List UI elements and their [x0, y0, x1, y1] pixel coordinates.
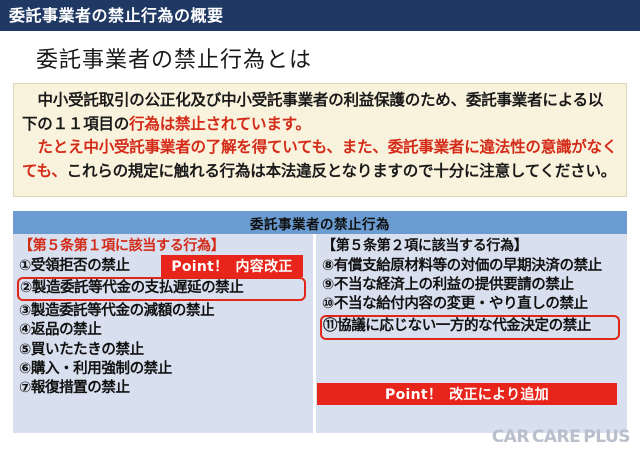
watermark-word-care: CARE — [532, 427, 580, 447]
table-header-row: 委託事業者の禁止行為 — [13, 211, 627, 234]
note-p1-red-text: 行為は禁止されています。 — [129, 115, 311, 133]
point-badge-content-revision: Point！ 内容改正 — [161, 255, 303, 277]
list-item: ⑨不当な経済上の利益の提供要請の禁止 — [322, 276, 623, 295]
list-item: ⑦報復措置の禁止 — [19, 379, 309, 398]
point-badge-text: 改正により追加 — [449, 384, 549, 404]
watermark-logo: CAR CARE PLUS — [492, 427, 630, 447]
point-badge-label: Point！ — [385, 384, 442, 404]
point-badge-added-by-revision: Point！ 改正により追加 — [317, 383, 617, 405]
watermark-word-plus: PLUS — [583, 427, 630, 447]
column-heading-clause2: 【第５条第２項に該当する行為】 — [322, 238, 623, 256]
watermark-word-car: CAR — [492, 427, 529, 447]
table-header-label: 委託事業者の禁止行為 — [250, 213, 390, 233]
list-item: ④返品の禁止 — [19, 321, 309, 340]
list-item: ③製造委託等代金の減額の禁止 — [19, 302, 309, 321]
highlighted-item-11: ⑪協議に応じない一方的な代金決定の禁止 — [320, 315, 620, 339]
note-p2-black-text: これらの規定に触れる行為は本法違反となりますので十分に注意してください。 — [67, 162, 616, 180]
list-item: ⑪協議に応じない一方的な代金決定の禁止 — [323, 317, 615, 336]
highlighted-item-2: ②製造委託等代金の支払遅延の禁止 — [17, 277, 306, 301]
list-item: ⑥購入・利用強制の禁止 — [19, 360, 309, 379]
list-item: ⑧有償支給原材料等の対価の早期決済の禁止 — [322, 257, 623, 276]
note-paragraph-2: たとえ中小受託事業者の了解を得ていても、また、委託事業者に違法性の意識がなくても… — [22, 136, 618, 183]
column-heading-clause1: 【第５条第１項に該当する行為】 — [19, 238, 309, 256]
slide-subtitle: 委託事業者の禁止行為とは — [36, 42, 312, 74]
point-badge-label: Point！ — [171, 256, 228, 276]
slide-header-title: 委託事業者の禁止行為の概要 — [0, 8, 224, 24]
note-p1-black-text: 中小受託取引の公正化及び中小受託事業者の利益保護のため、委託事業者による以下の１… — [22, 91, 603, 133]
note-paragraph-1: 中小受託取引の公正化及び中小受託事業者の利益保護のため、委託事業者による以下の１… — [22, 89, 618, 136]
table-column-article5-clause2: 【第５条第２項に該当する行為】 ⑧有償支給原材料等の対価の早期決済の禁止 ⑨不当… — [316, 234, 627, 433]
table-body: 【第５条第１項に該当する行為】 ①受領拒否の禁止 ②製造委託等代金の支払遅延の禁… — [13, 234, 627, 433]
prohibited-acts-table: 委託事業者の禁止行為 【第５条第１項に該当する行為】 ①受領拒否の禁止 ②製造委… — [13, 211, 627, 433]
point-badge-text: 内容改正 — [235, 256, 292, 276]
table-column-article5-clause1: 【第５条第１項に該当する行為】 ①受領拒否の禁止 ②製造委託等代金の支払遅延の禁… — [13, 234, 313, 433]
list-item: ②製造委託等代金の支払遅延の禁止 — [20, 279, 301, 298]
list-item: ⑩不当な給付内容の変更・やり直しの禁止 — [322, 295, 623, 314]
list-item: ⑤買いたたきの禁止 — [19, 341, 309, 360]
slide-header-bar: 委託事業者の禁止行為の概要 — [0, 0, 640, 31]
note-box: 中小受託取引の公正化及び中小受託事業者の利益保護のため、委託事業者による以下の１… — [13, 83, 627, 197]
